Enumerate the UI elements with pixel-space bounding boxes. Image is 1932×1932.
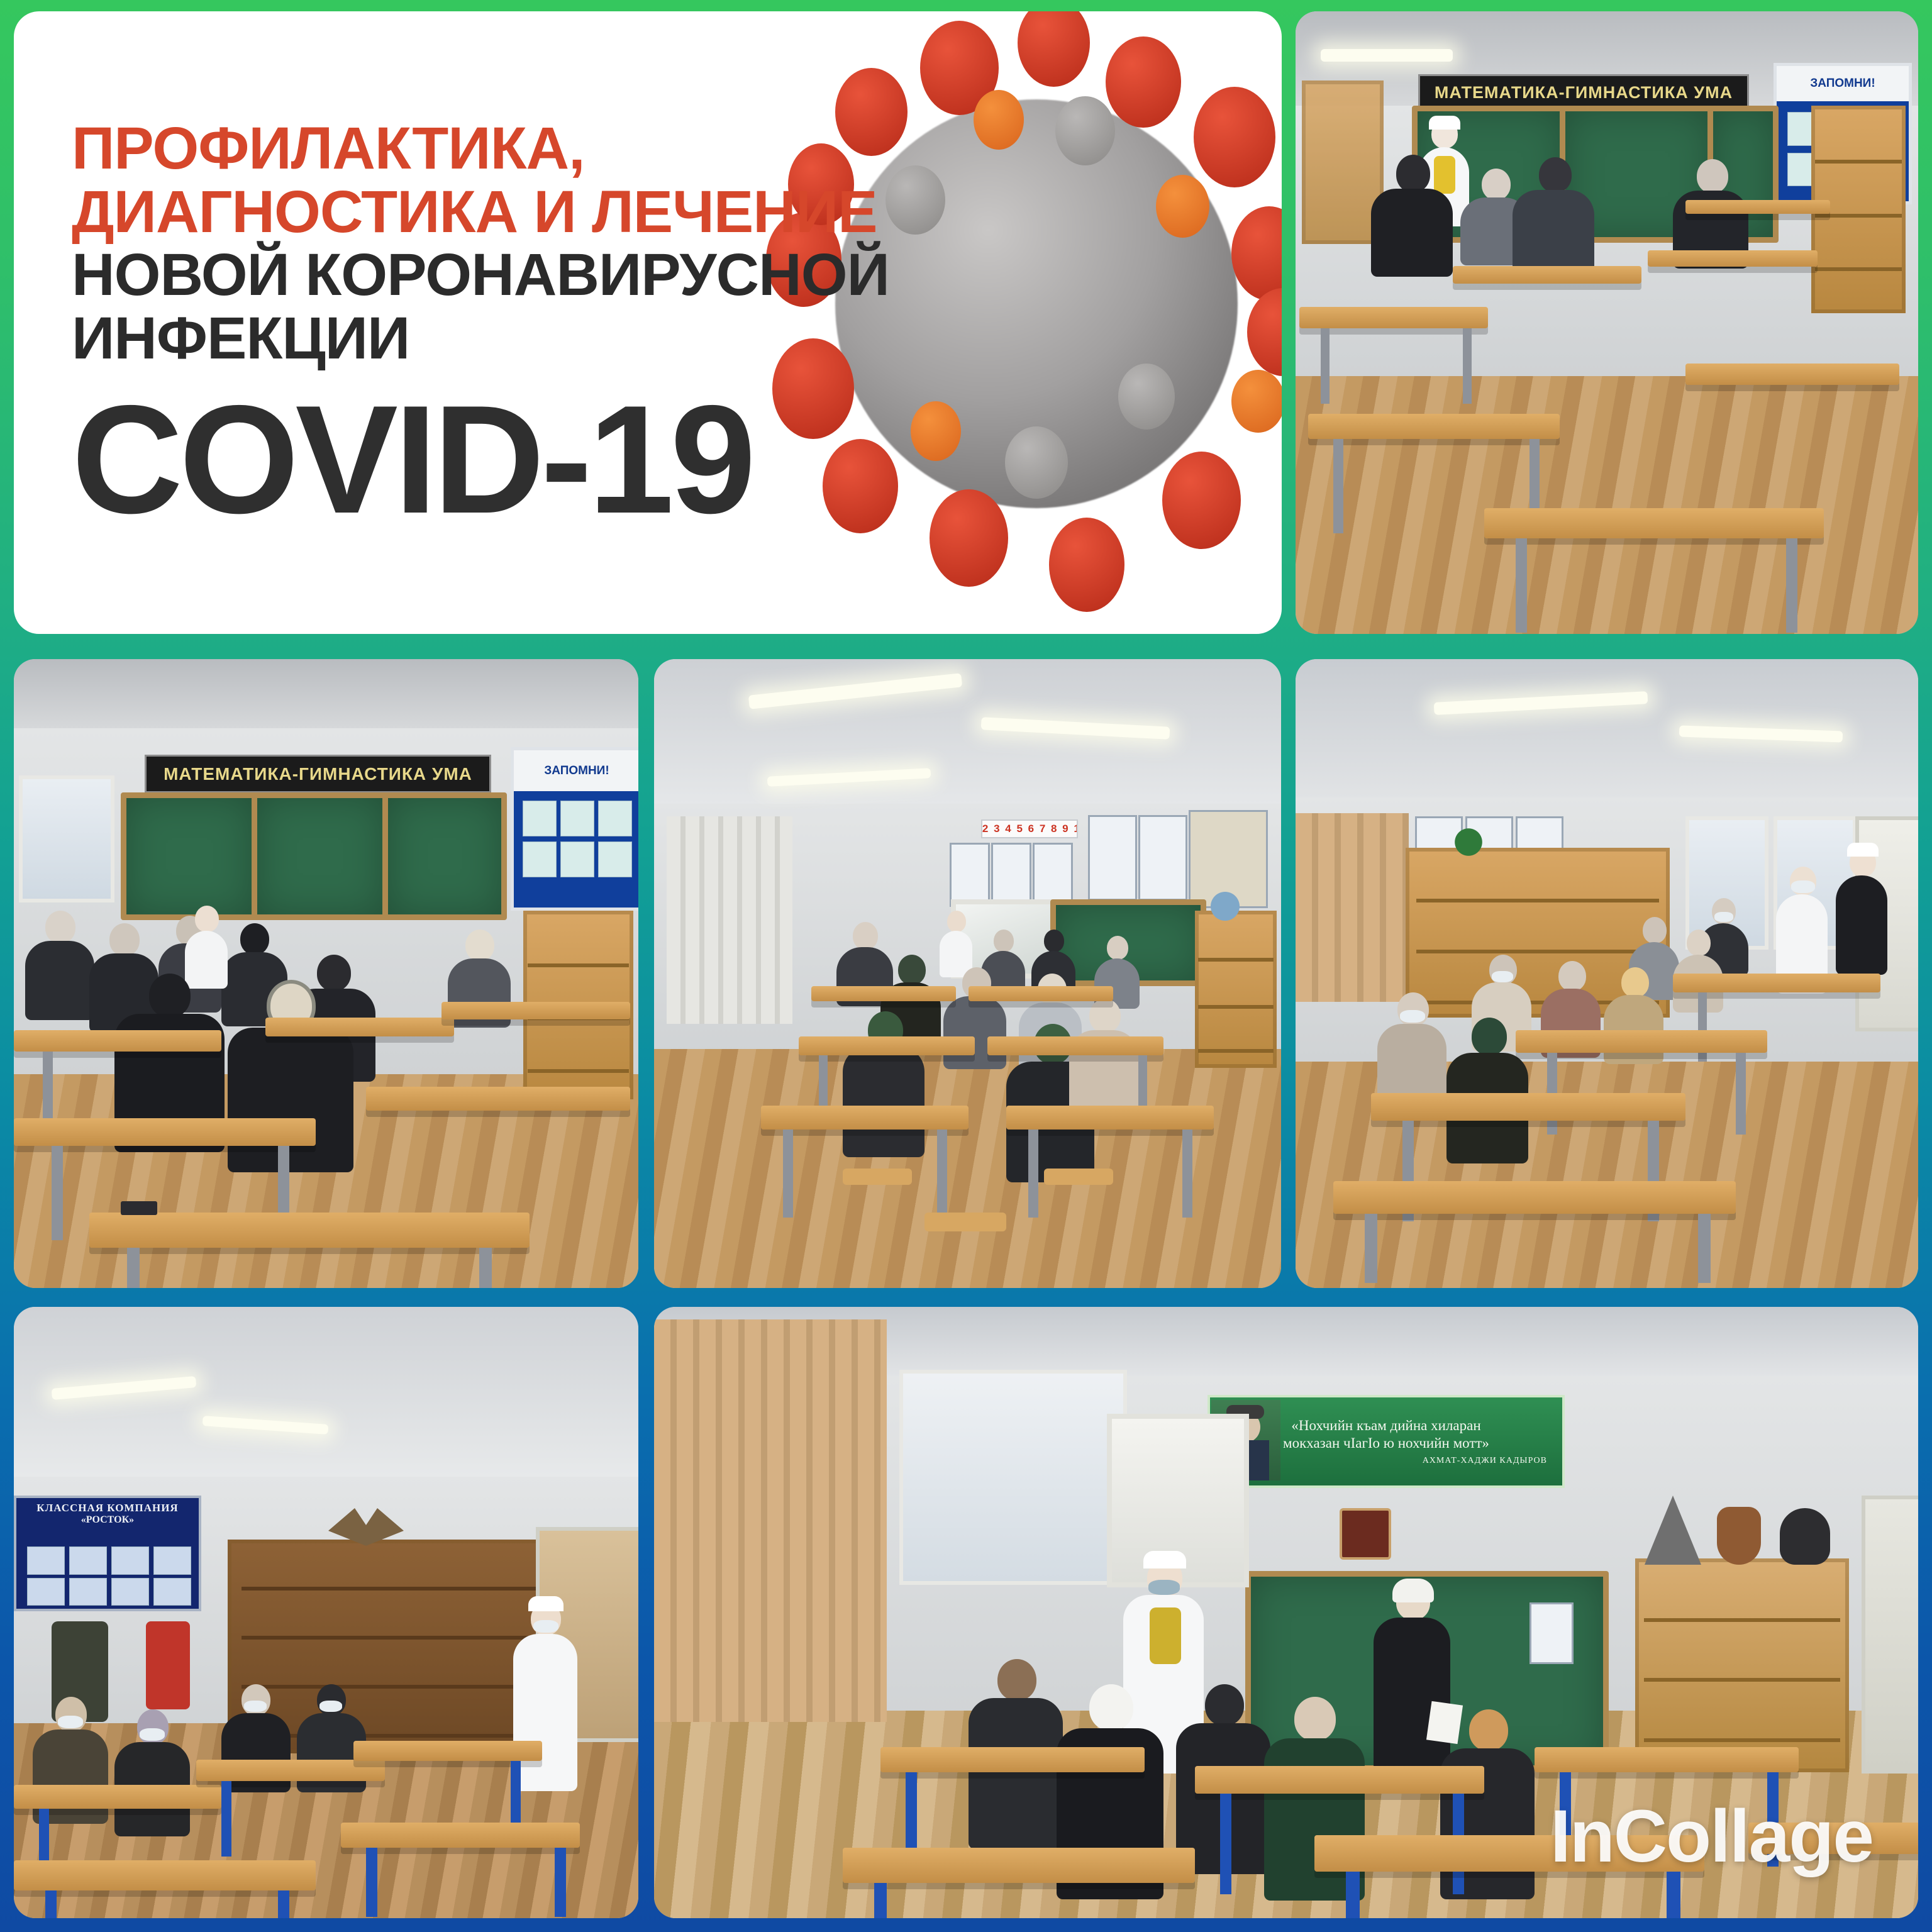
board-header-remember: ЗАПОМНИ! [514,750,638,791]
poster-line-2: ДИАГНОСТИКА И ЛЕЧЕНИЕ [72,180,839,244]
number-strip-1-10: 1 2 3 4 5 6 7 8 9 10 [981,819,1078,838]
person-attendee [1371,155,1453,274]
photo-collage: ПРОФИЛАКТИКА, ДИАГНОСТИКА И ЛЕЧЕНИЕ НОВО… [0,0,1932,1932]
poster-line-1: ПРОФИЛАКТИКА, [72,117,839,180]
wall-board-line1: КЛАССНАЯ КОМПАНИЯ [36,1502,178,1514]
person-presenter [511,1602,580,1791]
wall-board-rostok: КЛАССНАЯ КОМПАНИЯ «РОСТОК» [14,1496,201,1611]
person-presenter [1833,848,1890,974]
photo-top-right: МАТЕМАТИКА-ГИМНАСТИКА УМА ЗАПОМНИ! [1296,11,1918,634]
covid-poster-tile: ПРОФИЛАКТИКА, ДИАГНОСТИКА И ЛЕЧЕНИЕ НОВО… [14,11,1282,634]
person-attendee [1513,157,1594,277]
poster-title-covid19: COVID-19 [72,382,752,536]
photo-middle-center: 1 2 3 4 5 6 7 8 9 10 [654,659,1281,1288]
globe [1211,892,1240,921]
banner-author: АХМАТ-ХАДЖИ КАДЫРОВ [1423,1456,1547,1466]
poster-line-3: НОВОЙ КОРОНАВИРУСНОЙ [72,243,839,307]
poster-line-4: ИНФЕКЦИИ [72,307,839,370]
photo-bottom-right: «Нохчийн къам дийна хиларан мокхазан чIа… [654,1307,1918,1918]
wall-board-line2: «РОСТОК» [81,1514,134,1526]
photo-middle-right [1296,659,1918,1288]
decor-vase [1717,1507,1761,1565]
decor-pot [1780,1508,1830,1565]
banner-line-1: «Нохчийн къам дийна хиларан [1291,1417,1480,1435]
photo-middle-left: МАТЕМАТИКА-ГИМНАСТИКА УМА ЗАПОМНИ! [14,659,638,1288]
poster-text-block: ПРОФИЛАКТИКА, ДИАГНОСТИКА И ЛЕЧЕНИЕ НОВО… [72,117,839,370]
watermark-incollage: InCollage [1550,1794,1873,1879]
photo-bottom-left: КЛАССНАЯ КОМПАНИЯ «РОСТОК» [14,1307,638,1918]
board-header-remember: ЗАПОМНИ! [1777,66,1909,101]
phone-on-desk [121,1201,157,1215]
red-jacket [146,1621,190,1709]
wall-sign-math: МАТЕМАТИКА-ГИМНАСТИКА УМА [145,755,491,793]
banner-line-2: мокхазан чIагIо ю нохчийн мотт» [1283,1435,1489,1452]
